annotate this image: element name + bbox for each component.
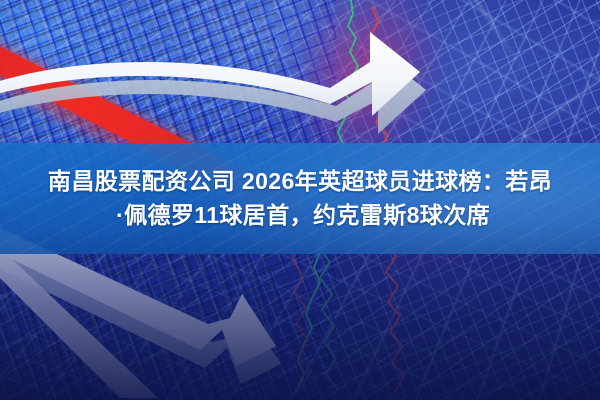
thumbnail-image: 南昌股票配资公司 2026年英超球员进球榜：若昂 ·佩德罗11球居首，约克雷斯8… (0, 0, 600, 400)
vignette-overlay (0, 0, 600, 400)
